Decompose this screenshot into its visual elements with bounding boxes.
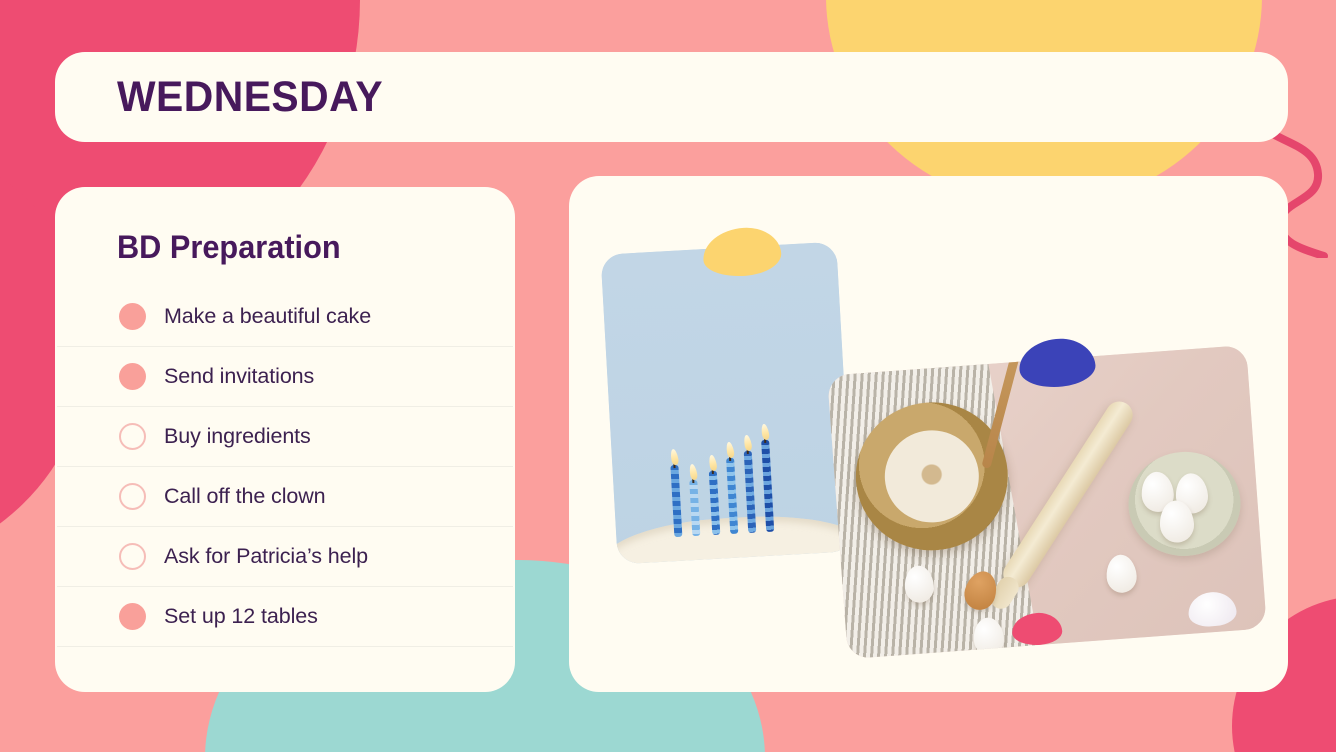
list-item[interactable]: Buy ingredients	[57, 406, 513, 466]
list-item-label: Buy ingredients	[164, 424, 311, 449]
list-item-label: Set up 12 tables	[164, 604, 318, 629]
list-item-label: Ask for Patricia’s help	[164, 544, 368, 569]
checklist: Make a beautiful cake Send invitations B…	[57, 286, 513, 646]
slide-canvas: WEDNESDAY BD Preparation Make a beautifu…	[0, 0, 1336, 752]
checkbox-empty-icon[interactable]	[119, 543, 146, 570]
birthday-candles-photo	[601, 242, 854, 565]
batter	[882, 427, 982, 526]
list-item-label: Call off the clown	[164, 484, 326, 509]
checkbox-empty-icon[interactable]	[119, 483, 146, 510]
sky-background	[601, 242, 854, 565]
list-item-label: Send invitations	[164, 364, 314, 389]
list-item-label: Make a beautiful cake	[164, 304, 371, 329]
list-item[interactable]: Ask for Patricia’s help	[57, 526, 513, 586]
list-item[interactable]: Make a beautiful cake	[57, 286, 513, 346]
checkbox-empty-icon[interactable]	[119, 423, 146, 450]
photo-card	[569, 176, 1288, 692]
page-title: WEDNESDAY	[117, 73, 383, 122]
checklist-end-divider	[57, 646, 513, 684]
checkbox-filled-icon[interactable]	[119, 603, 146, 630]
checkbox-filled-icon[interactable]	[119, 303, 146, 330]
baking-ingredients-photo	[827, 345, 1267, 659]
list-item[interactable]: Call off the clown	[57, 466, 513, 526]
checklist-heading: BD Preparation	[117, 229, 499, 266]
title-card: WEDNESDAY	[55, 52, 1288, 142]
list-item[interactable]: Send invitations	[57, 346, 513, 406]
list-item[interactable]: Set up 12 tables	[57, 586, 513, 646]
checklist-card: BD Preparation Make a beautiful cake Sen…	[55, 187, 515, 692]
checkbox-filled-icon[interactable]	[119, 363, 146, 390]
